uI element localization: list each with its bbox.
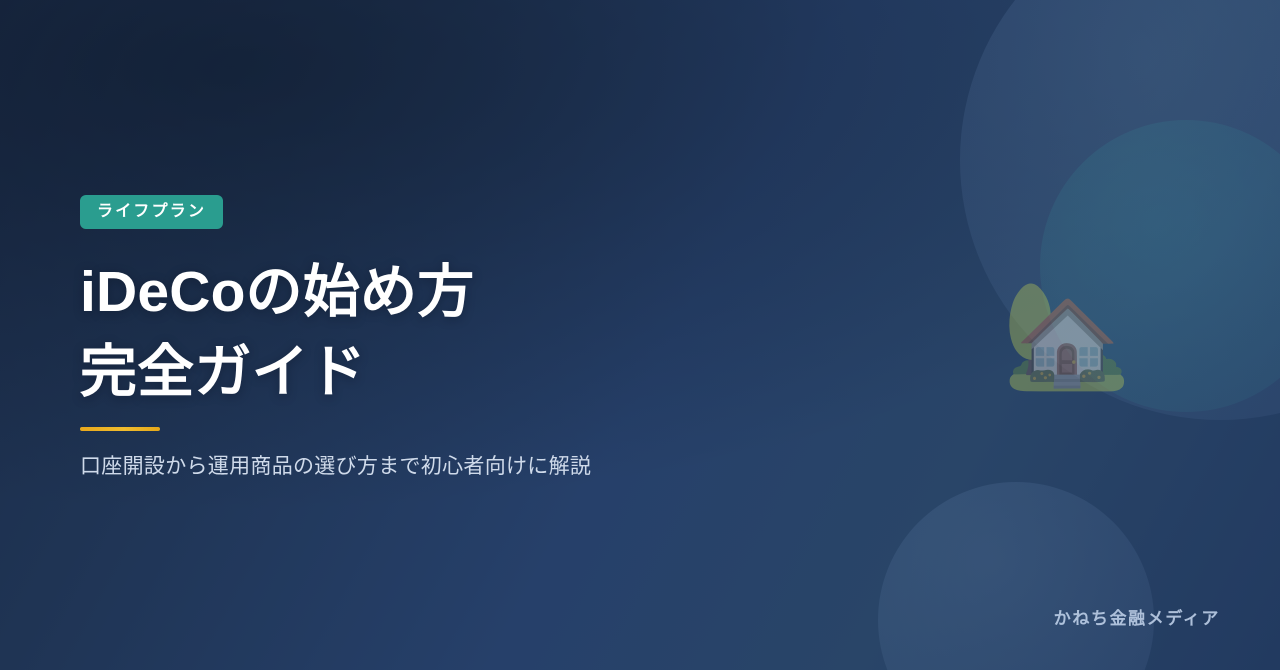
brand-name: かねち金融メディア: [1054, 608, 1220, 630]
accent-divider: [80, 427, 160, 431]
page-subtitle: 口座開設から運用商品の選び方まで初心者向けに解説: [80, 452, 591, 482]
category-badge: ライフプラン: [80, 195, 223, 229]
page-title-line-2: 完全ガイド: [80, 332, 474, 412]
house-with-garden-icon: 🏡: [1002, 276, 1120, 394]
card-content: ライフプラン iDeCoの始め方 完全ガイド 口座開設から運用商品の選び方まで初…: [80, 0, 940, 670]
page-title: iDeCoの始め方 完全ガイド: [80, 252, 474, 412]
ogp-card: 🏡 ライフプラン iDeCoの始め方 完全ガイド 口座開設から運用商品の選び方ま…: [0, 0, 1280, 670]
page-title-line-1: iDeCoの始め方: [80, 252, 474, 332]
